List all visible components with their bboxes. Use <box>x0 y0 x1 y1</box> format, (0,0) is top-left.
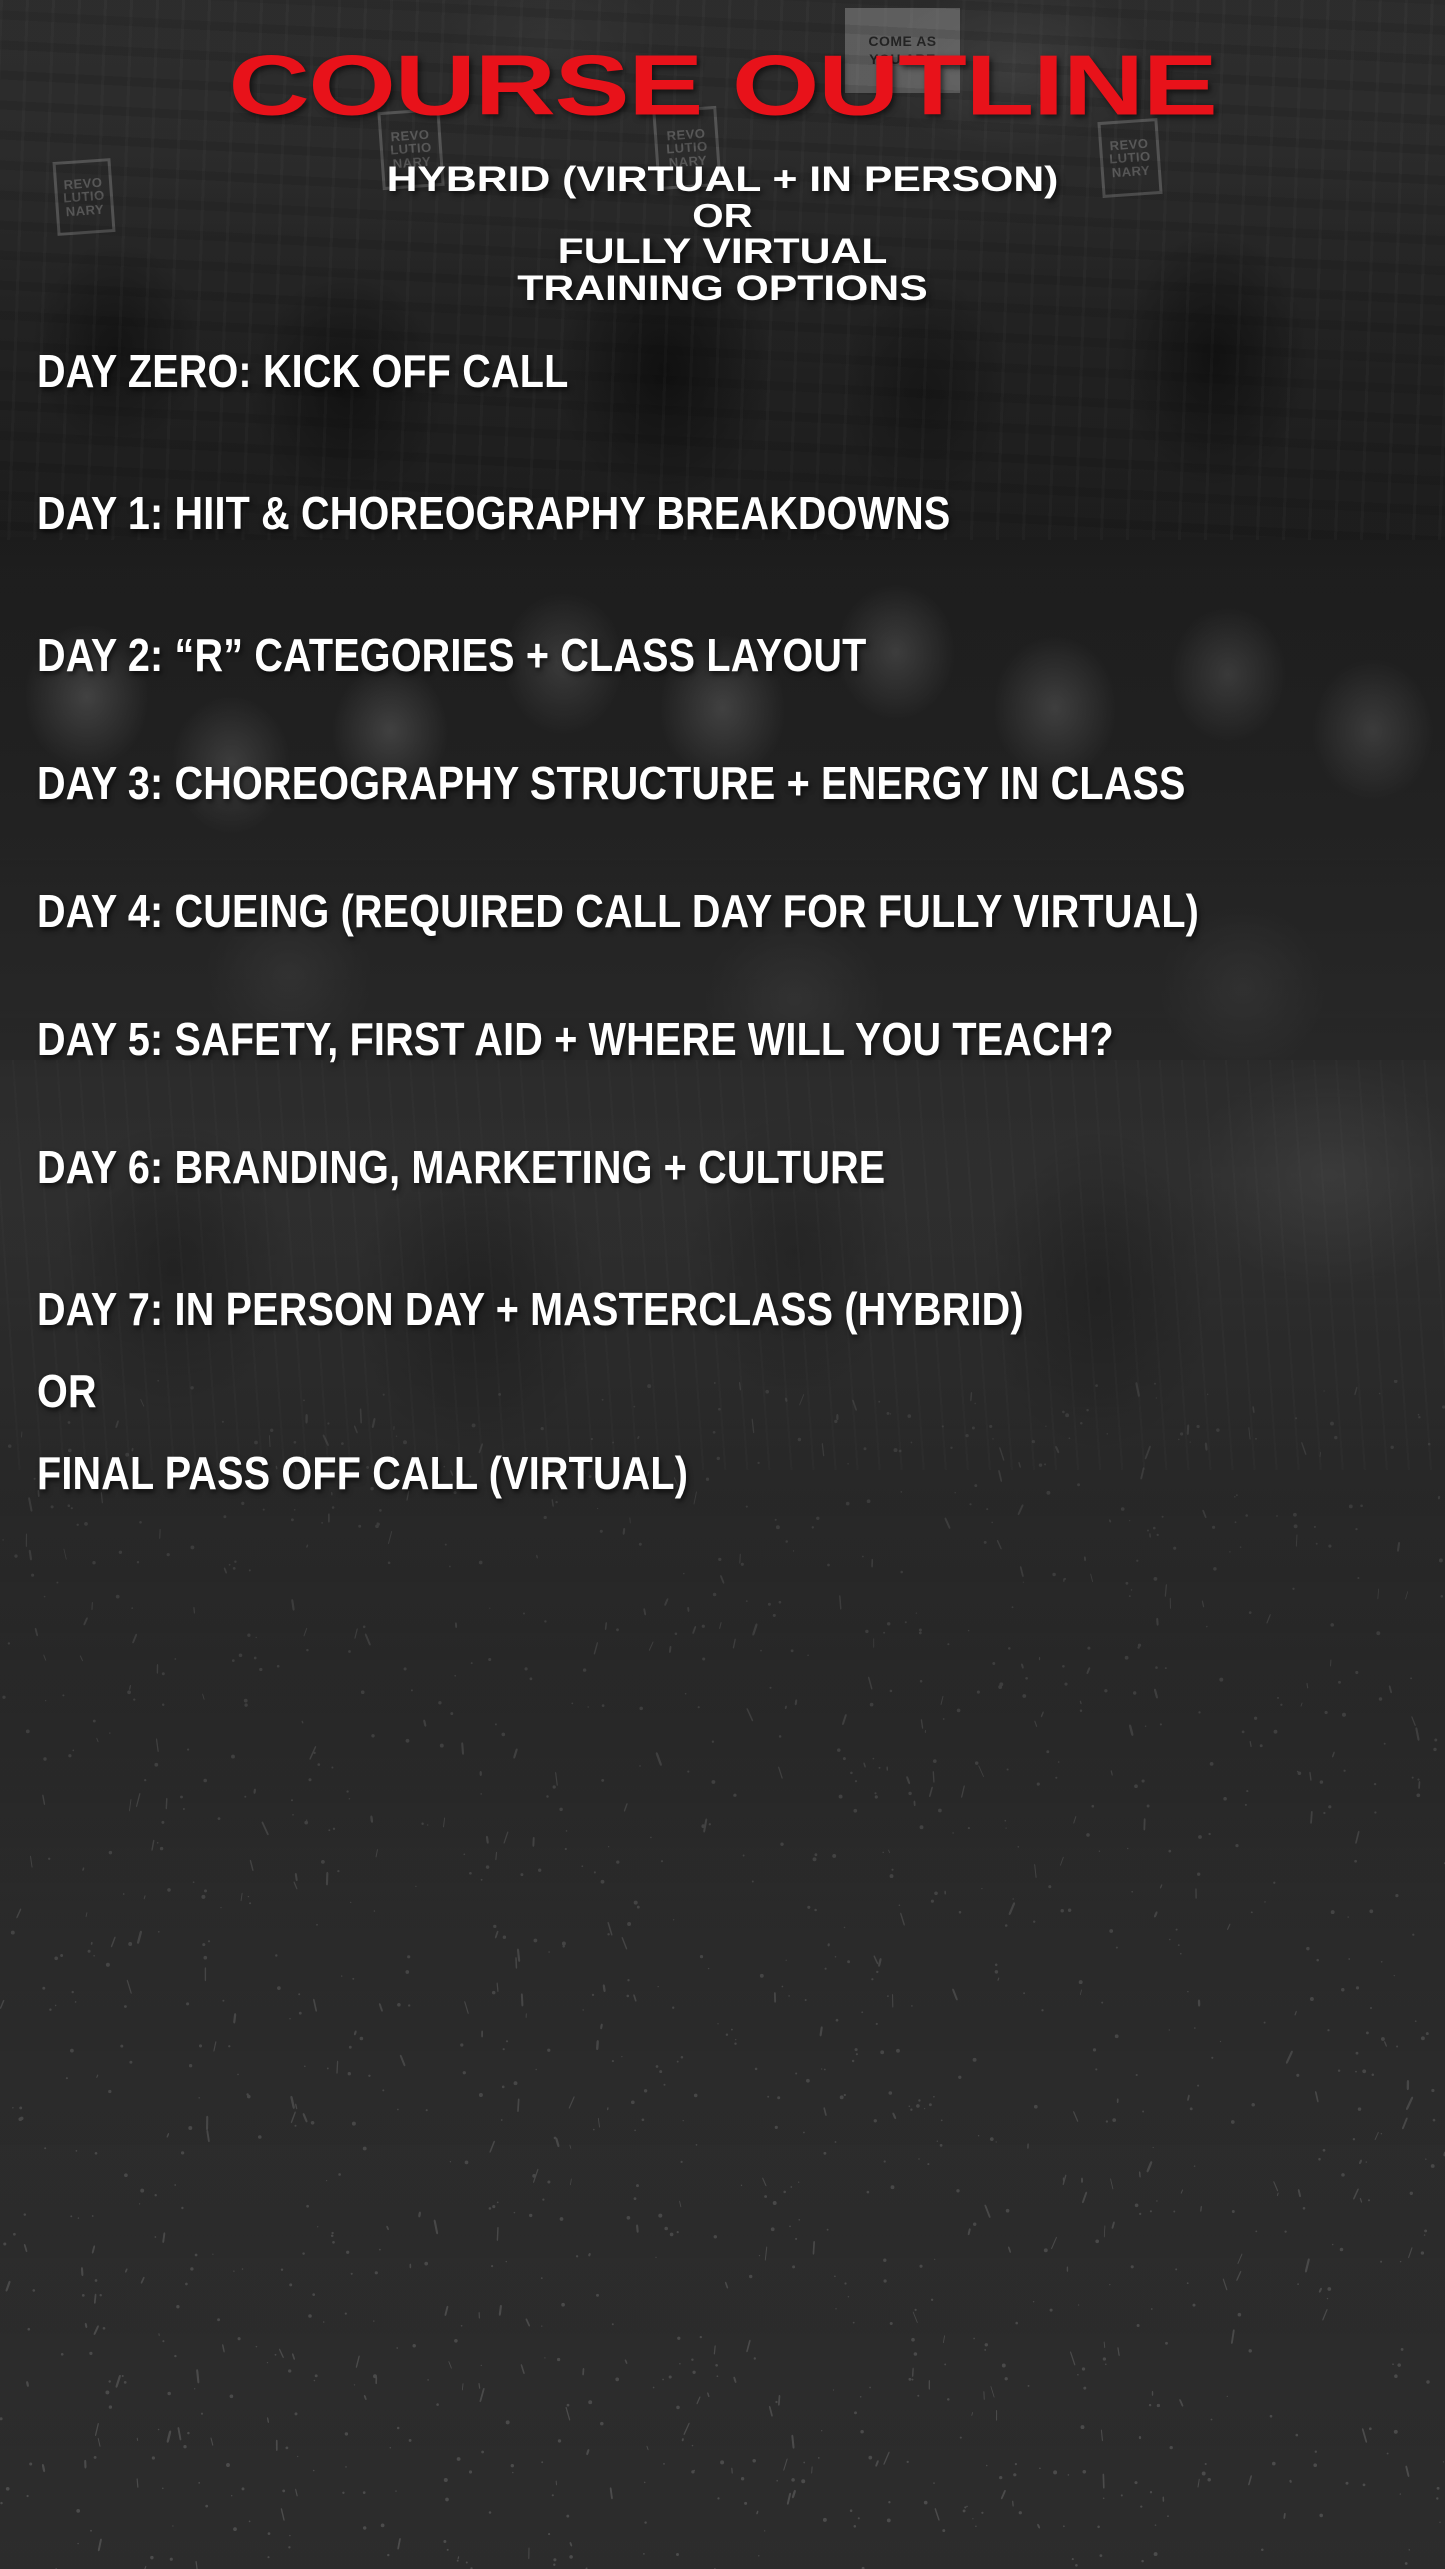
list-item: FINAL PASS OFF CALL (VIRTUAL) <box>37 1450 1417 1532</box>
subtitle-line-3: FULLY VIRTUAL <box>0 234 1445 269</box>
list-item: DAY 1: HIIT & CHOREOGRAPHY BREAKDOWNS <box>37 490 1417 632</box>
day-label: DAY 1: HIIT & CHOREOGRAPHY BREAKDOWNS <box>37 490 950 537</box>
day-label: DAY 6: BRANDING, MARKETING + CULTURE <box>37 1144 885 1191</box>
subtitle-line-4: TRAINING OPTIONS <box>0 271 1445 306</box>
day-label: FINAL PASS OFF CALL (VIRTUAL) <box>37 1450 688 1497</box>
subtitle-line-2: OR <box>0 199 1445 232</box>
page-title: COURSE OUTLINE <box>0 44 1445 126</box>
list-item: DAY 7: IN PERSON DAY + MASTERCLASS (HYBR… <box>37 1286 1417 1368</box>
day-label: DAY 7: IN PERSON DAY + MASTERCLASS (HYBR… <box>37 1286 1024 1333</box>
subtitle-block: HYBRID (VIRTUAL + IN PERSON) OR FULLY VI… <box>0 162 1445 308</box>
day-label: DAY 2: “R” CATEGORIES + CLASS LAYOUT <box>37 632 866 679</box>
list-item: OR <box>37 1368 1417 1450</box>
course-outline-poster: COME AS YOU ARE REVO LUTIO NARY REVO LUT… <box>0 0 1445 2569</box>
day-label: DAY 5: SAFETY, FIRST AID + WHERE WILL YO… <box>37 1016 1114 1063</box>
list-item: DAY 3: CHOREOGRAPHY STRUCTURE + ENERGY I… <box>37 760 1417 888</box>
subtitle-line-1: HYBRID (VIRTUAL + IN PERSON) <box>0 162 1445 197</box>
list-item: DAY 2: “R” CATEGORIES + CLASS LAYOUT <box>37 632 1417 760</box>
day-label: DAY 4: CUEING (REQUIRED CALL DAY FOR FUL… <box>37 888 1199 935</box>
day-label: DAY ZERO: KICK OFF CALL <box>37 348 568 395</box>
list-item: DAY 6: BRANDING, MARKETING + CULTURE <box>37 1144 1417 1286</box>
course-day-list: DAY ZERO: KICK OFF CALL DAY 1: HIIT & CH… <box>37 348 1417 1532</box>
day-label-or: OR <box>37 1368 97 1415</box>
list-item: DAY ZERO: KICK OFF CALL <box>37 348 1417 490</box>
list-item: DAY 5: SAFETY, FIRST AID + WHERE WILL YO… <box>37 1016 1417 1144</box>
list-item: DAY 4: CUEING (REQUIRED CALL DAY FOR FUL… <box>37 888 1417 1016</box>
day-label: DAY 3: CHOREOGRAPHY STRUCTURE + ENERGY I… <box>37 760 1186 807</box>
